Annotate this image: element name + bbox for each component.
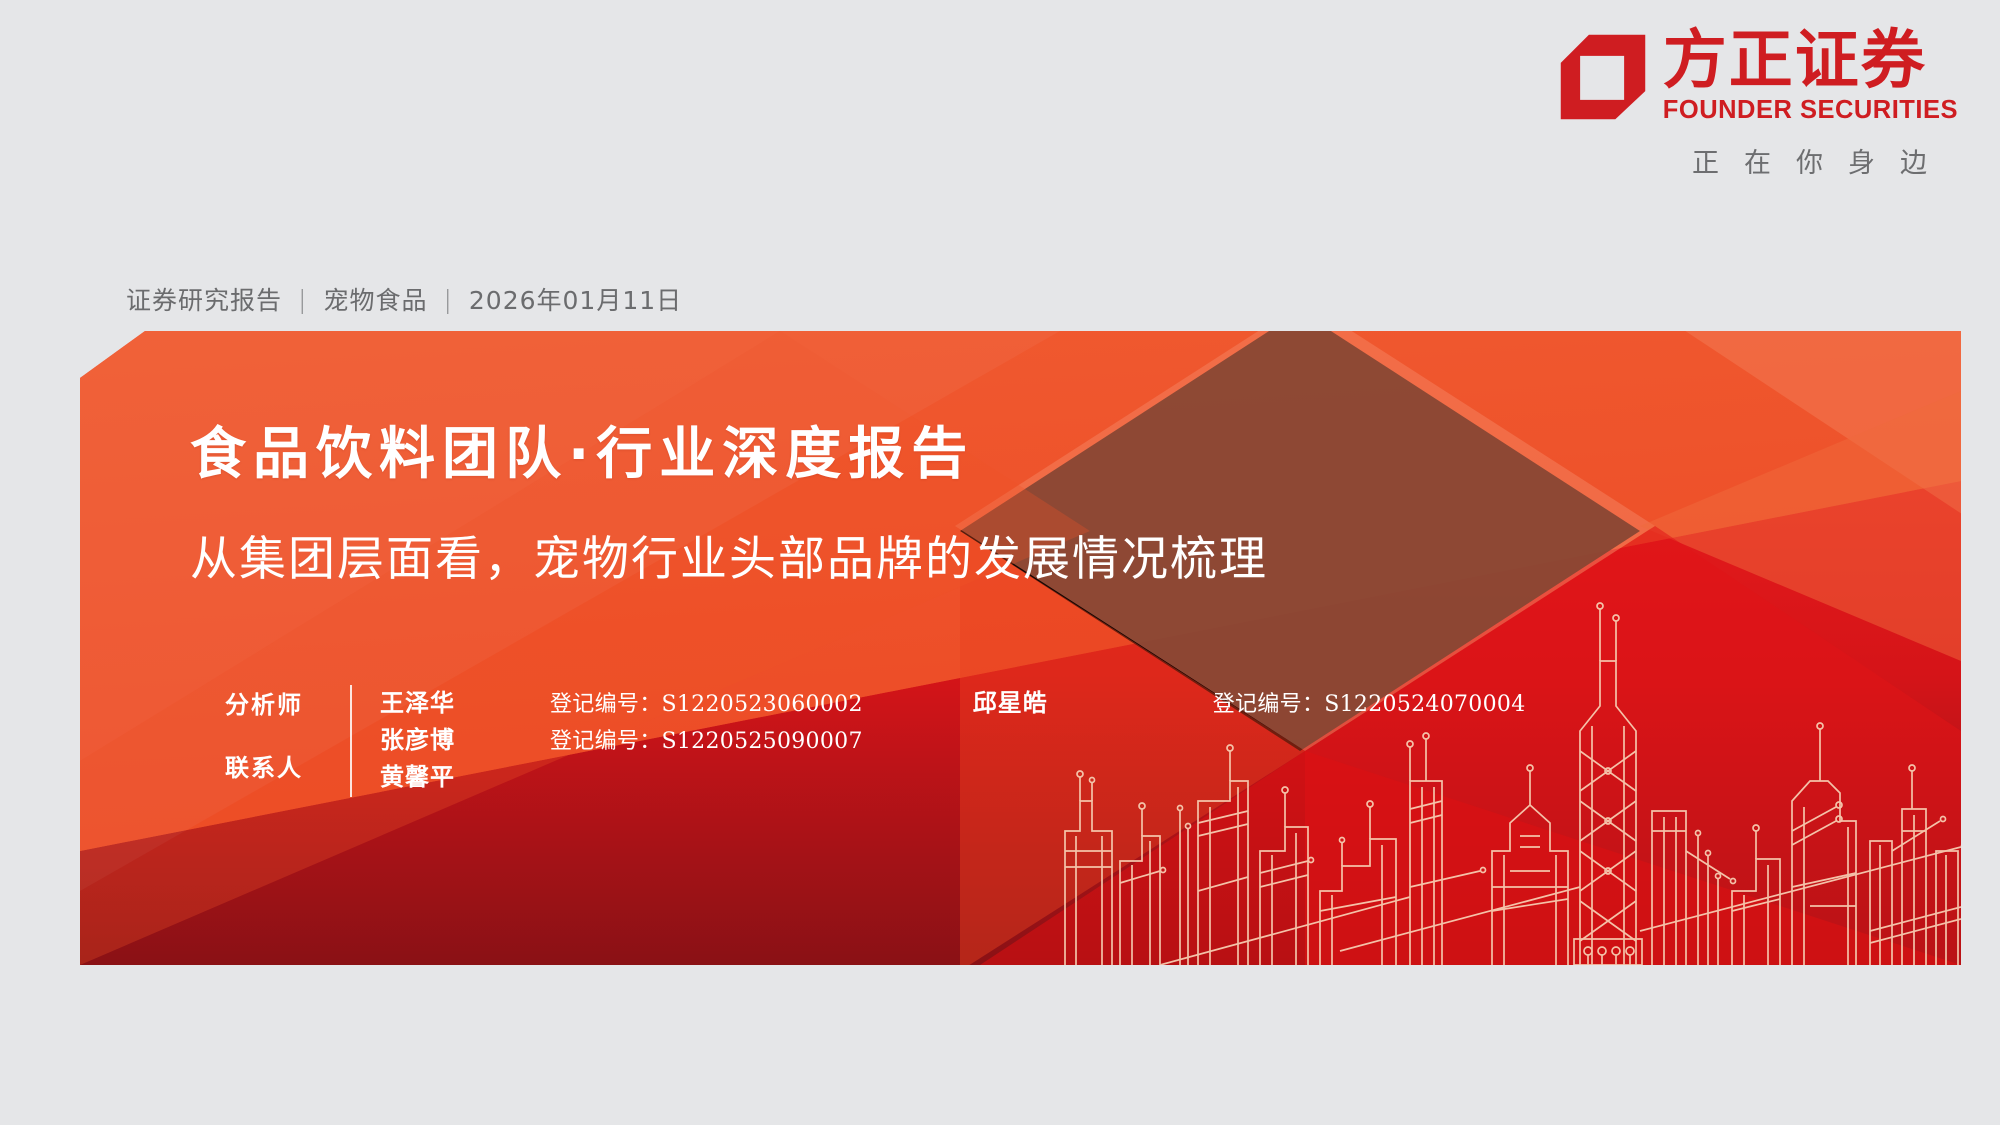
brand-tagline: 正在你身边 — [1692, 141, 1952, 180]
breadcrumb-date: 2026年01月11日 — [469, 281, 682, 317]
founder-cube-logo-icon — [1559, 33, 1647, 121]
code-label: 登记编号： — [550, 729, 662, 754]
analyst-name-secondary: 邱星皓 — [973, 683, 1213, 718]
breadcrumb-separator-1: | — [298, 285, 307, 314]
analyst-name: 王泽华 — [380, 683, 550, 718]
logo-row: 方正证券 FOUNDER SECURITIES — [1559, 30, 1958, 125]
code-value: S1220523060002 — [662, 692, 863, 717]
analyst-row: 王泽华 登记编号：S1220523060002 邱星皓 登记编号：S122052… — [380, 683, 1526, 720]
role-label-contact: 联系人 — [225, 748, 338, 783]
report-cover-page: 方正证券 FOUNDER SECURITIES 正在你身边 证券研究报告 | 宠… — [0, 0, 2000, 1125]
code-value-secondary: S1220524070004 — [1324, 692, 1525, 717]
role-label-analyst: 分析师 — [225, 685, 338, 720]
analyst-code: 登记编号：S1220523060002 — [550, 686, 863, 718]
analyst-name: 张彦博 — [380, 720, 550, 755]
analyst-row: 黄馨平 — [380, 757, 1526, 794]
analyst-divider — [350, 685, 352, 797]
banner-text-layer: 食品饮料团队·行业深度报告 从集团层面看，宠物行业头部品牌的发展情况梳理 分析师… — [80, 331, 1961, 965]
analyst-code: 登记编号：S1220525090007 — [550, 723, 863, 755]
breadcrumb-report-type: 证券研究报告 — [126, 281, 282, 317]
page-title: 食品饮料团队·行业深度报告 — [190, 409, 974, 490]
contact-name: 黄馨平 — [380, 757, 550, 792]
analyst-role-labels: 分析师 联系人 — [225, 683, 338, 783]
brand-logo-block: 方正证券 FOUNDER SECURITIES 正在你身边 — [1559, 30, 1958, 180]
analyst-rows: 王泽华 登记编号：S1220523060002 邱星皓 登记编号：S122052… — [380, 683, 1526, 797]
brand-name-en: FOUNDER SECURITIES — [1663, 96, 1958, 125]
cover-banner: 食品饮料团队·行业深度报告 从集团层面看，宠物行业头部品牌的发展情况梳理 分析师… — [80, 331, 1961, 965]
analyst-row: 张彦博 登记编号：S1220525090007 — [380, 720, 1526, 757]
analyst-code-secondary: 登记编号：S1220524070004 — [1213, 686, 1526, 718]
breadcrumb: 证券研究报告 | 宠物食品 | 2026年01月11日 — [126, 281, 682, 317]
breadcrumb-industry: 宠物食品 — [323, 281, 427, 317]
code-label: 登记编号： — [550, 692, 662, 717]
breadcrumb-separator-2: | — [443, 285, 452, 314]
logo-wordmark: 方正证券 FOUNDER SECURITIES — [1663, 30, 1958, 125]
analysts-block: 分析师 联系人 王泽华 登记编号：S1220523060002 邱星皓 登记编号… — [225, 683, 1526, 797]
code-label-secondary: 登记编号： — [1213, 692, 1325, 717]
code-value: S1220525090007 — [662, 729, 863, 754]
brand-name-cn: 方正证券 — [1663, 30, 1927, 93]
page-subtitle: 从集团层面看，宠物行业头部品牌的发展情况梳理 — [190, 520, 1268, 589]
